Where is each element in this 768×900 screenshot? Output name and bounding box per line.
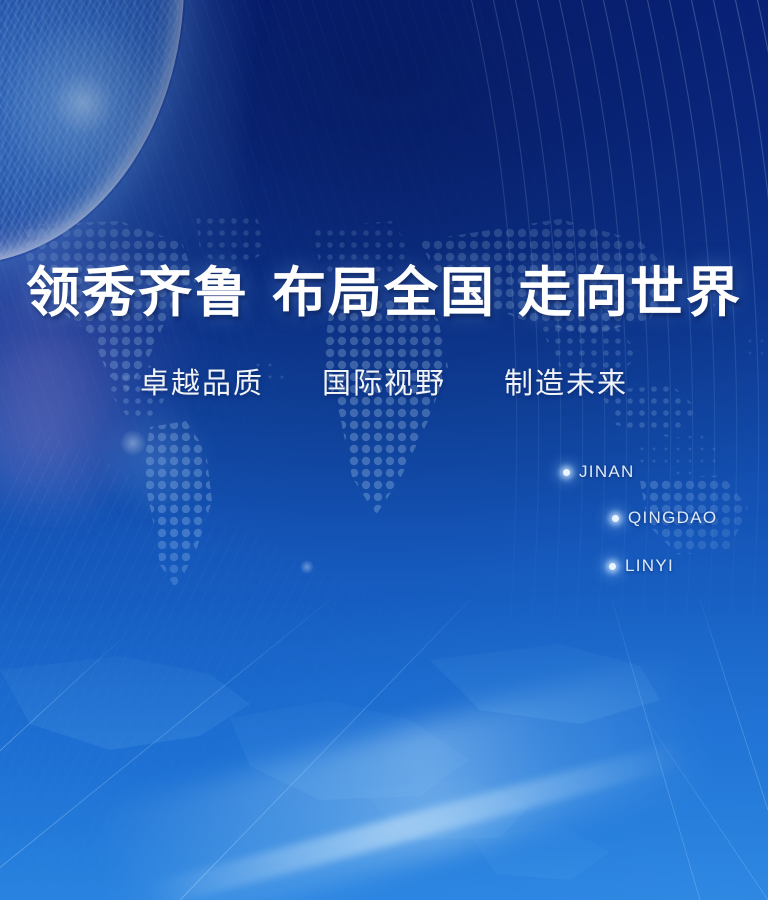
city-label-jinan: JINAN bbox=[579, 462, 635, 482]
city-marker-linyi[interactable]: LINYI bbox=[609, 556, 674, 576]
headline-segment-1: 领秀齐鲁 bbox=[26, 266, 250, 320]
location-dot-icon bbox=[612, 515, 619, 522]
subtitle-segment-3: 制造未来 bbox=[504, 368, 628, 400]
city-marker-qingdao[interactable]: QINGDAO bbox=[612, 508, 717, 528]
city-marker-jinan[interactable]: JINAN bbox=[563, 462, 635, 482]
subtitle-segment-2: 国际视野 bbox=[322, 368, 446, 400]
city-label-linyi: LINYI bbox=[625, 556, 674, 576]
page-title: 领秀齐鲁布局全国走向世界 bbox=[0, 266, 768, 320]
subtitle-segment-1: 卓越品质 bbox=[140, 368, 264, 400]
banner-content: 领秀齐鲁布局全国走向世界 卓越品质国际视野制造未来 JINAN QINGDAO … bbox=[0, 0, 768, 900]
headline-segment-3: 走向世界 bbox=[518, 266, 742, 320]
location-dot-icon bbox=[609, 563, 616, 570]
page-subtitle: 卓越品质国际视野制造未来 bbox=[0, 370, 768, 399]
headline-segment-2: 布局全国 bbox=[272, 266, 496, 320]
banner-stage: 领秀齐鲁布局全国走向世界 卓越品质国际视野制造未来 JINAN QINGDAO … bbox=[0, 0, 768, 900]
location-dot-icon bbox=[563, 469, 570, 476]
city-label-qingdao: QINGDAO bbox=[628, 508, 717, 528]
